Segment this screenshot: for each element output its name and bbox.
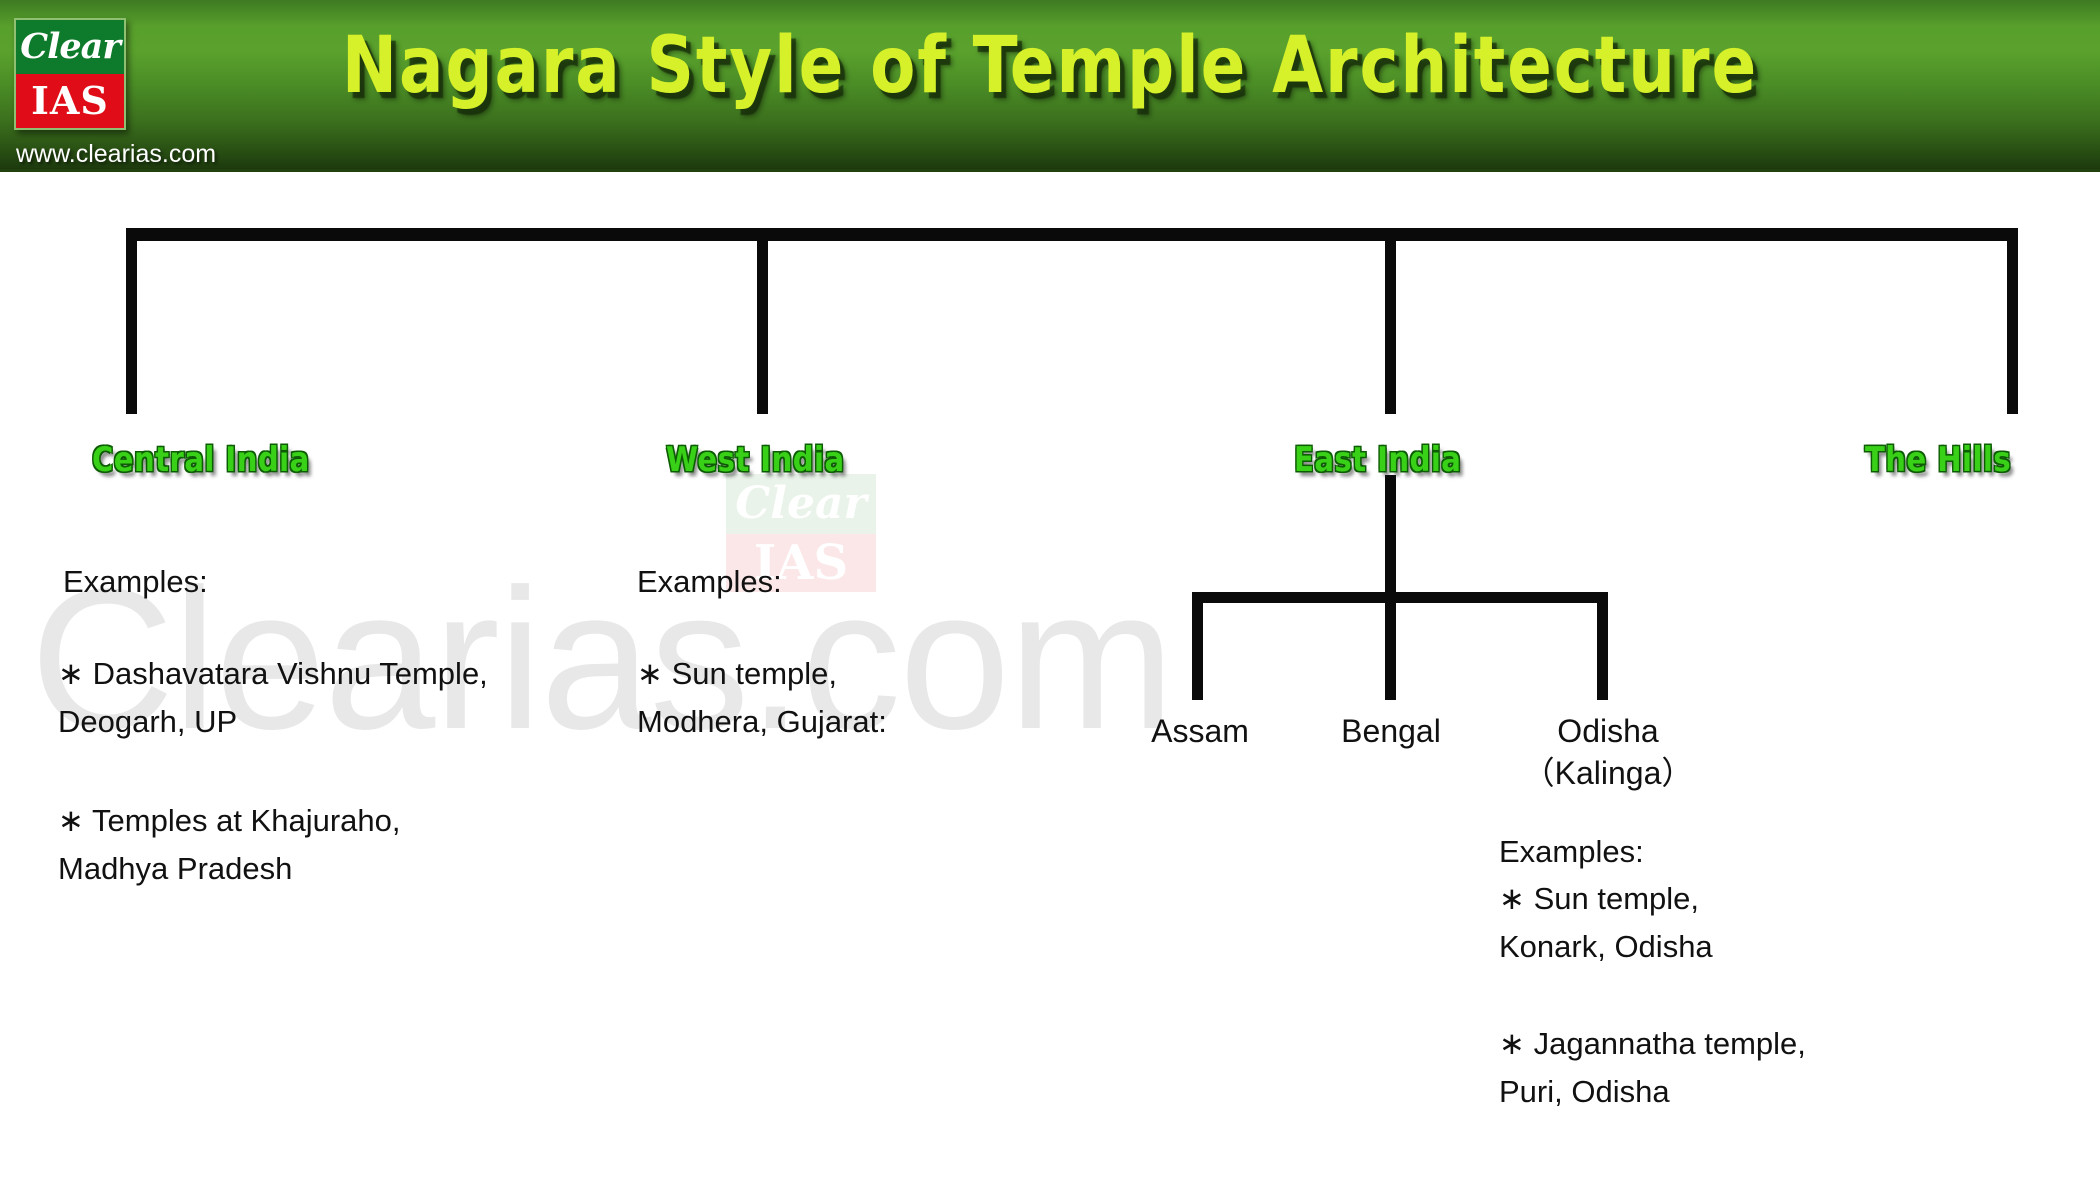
- central-india-example-1: ∗ Dashavatara Vishnu Temple, Deogarh, UP: [58, 650, 488, 746]
- central-india-examples-heading: Examples:: [63, 558, 208, 606]
- branch-label-central-india[interactable]: Central India: [92, 440, 310, 480]
- tree-drop-odisha: [1597, 592, 1608, 700]
- branch-label-west-india[interactable]: West India: [666, 440, 845, 480]
- tree-drop-central-india: [126, 228, 137, 414]
- tree-horizontal-bus-east-india: [1192, 592, 1608, 603]
- leaf-label-odisha[interactable]: Odisha （Kalinga）: [1513, 710, 1703, 794]
- odisha-example-1: ∗ Sun temple, Konark, Odisha: [1499, 875, 1713, 971]
- page-title: Nagara Style of Temple Architecture: [63, 22, 2037, 112]
- tree-drop-east-india: [1385, 228, 1396, 414]
- page-header: Clear IAS www.clearias.com Nagara Style …: [0, 0, 2100, 172]
- tree-drop-assam: [1192, 592, 1203, 700]
- west-india-examples-heading: Examples:: [637, 558, 782, 606]
- leaf-label-bengal[interactable]: Bengal: [1306, 710, 1476, 752]
- tree-drop-east-india-sub: [1385, 475, 1396, 603]
- logo-website-url: www.clearias.com: [16, 140, 216, 169]
- watermark-logo-clear-text: Clear: [726, 474, 876, 534]
- odisha-example-2: ∗ Jagannatha temple, Puri, Odisha: [1499, 1020, 1806, 1116]
- leaf-label-assam[interactable]: Assam: [1115, 710, 1285, 752]
- central-india-example-2: ∗ Temples at Khajuraho, Madhya Pradesh: [58, 797, 400, 893]
- west-india-example-1: ∗ Sun temple, Modhera, Gujarat:: [637, 650, 887, 746]
- branch-label-east-india[interactable]: East India: [1294, 440, 1461, 480]
- tree-drop-bengal: [1385, 592, 1396, 700]
- tree-horizontal-bus: [126, 228, 2018, 241]
- branch-label-the-hills[interactable]: The Hills: [1865, 440, 2011, 480]
- odisha-examples-heading: Examples:: [1499, 828, 1644, 876]
- tree-drop-west-india: [757, 228, 768, 414]
- tree-drop-the-hills: [2007, 228, 2018, 414]
